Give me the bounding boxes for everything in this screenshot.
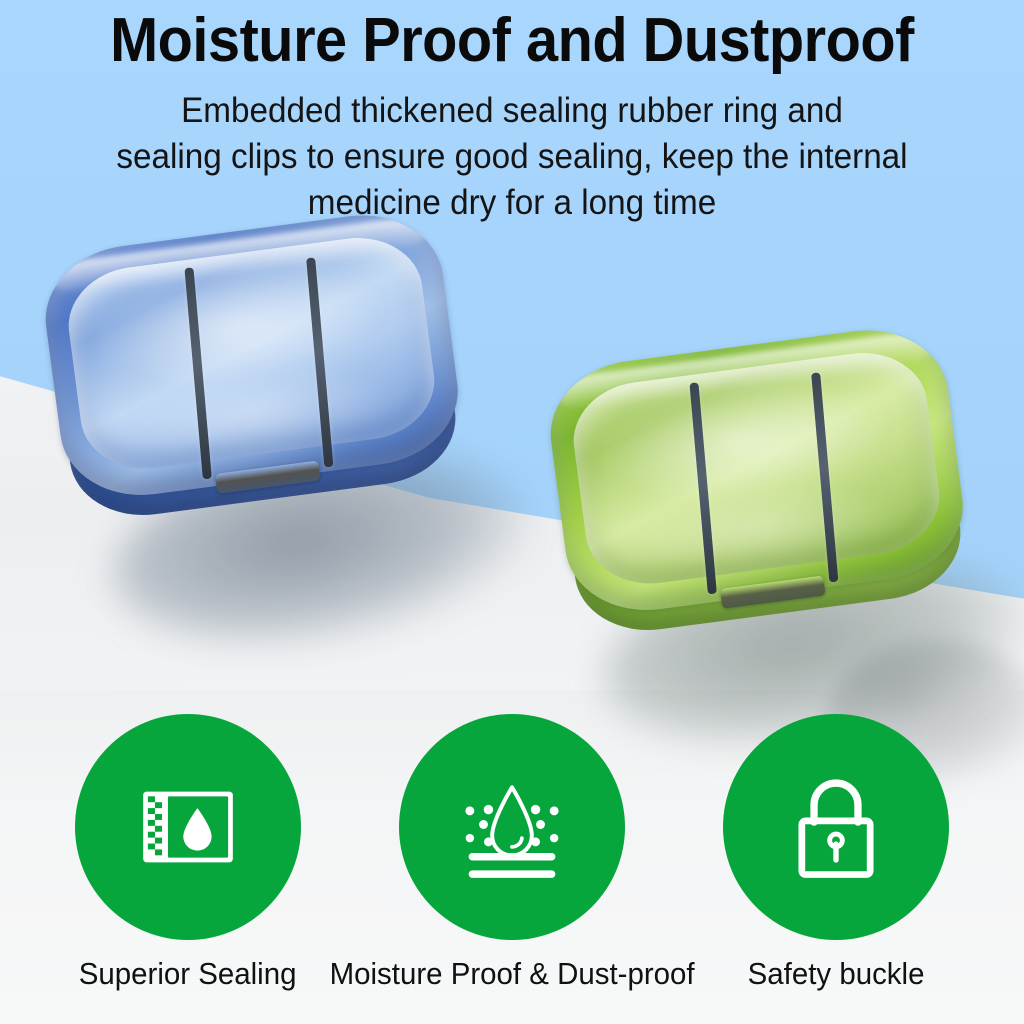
subtitle-line-1: Embedded thickened sealing rubber ring a… (64, 88, 961, 134)
droplet-dust-layers-icon (450, 765, 574, 889)
feature-icon-circle-2 (399, 714, 625, 940)
feature-item-moisture-dust-proof[interactable]: Moisture Proof & Dust-proof (362, 714, 662, 1024)
green-pill-box (542, 320, 978, 670)
sealed-pouch-droplet-icon (129, 768, 247, 886)
feature-label-1: Superior Sealing (79, 956, 297, 992)
feature-label-2: Moisture Proof & Dust-proof (330, 956, 695, 992)
page-title: Moisture Proof and Dustproof (36, 4, 988, 78)
feature-label-3: Safety buckle (748, 956, 925, 992)
subtitle-line-2: sealing clips to ensure good sealing, ke… (64, 134, 961, 180)
feature-icon-circle-1 (75, 714, 301, 940)
page-subtitle: Embedded thickened sealing rubber ring a… (64, 88, 961, 226)
blue-pill-box (37, 205, 473, 555)
subtitle-line-3: medicine dry for a long time (64, 180, 961, 226)
feature-row: Superior Sealing (0, 714, 1024, 1024)
padlock-icon (775, 766, 897, 888)
feature-item-safety-buckle[interactable]: Safety buckle (686, 714, 986, 1024)
feature-icon-circle-3 (723, 714, 949, 940)
product-feature-banner: Moisture Proof and Dustproof Embedded th… (0, 0, 1024, 1024)
feature-item-superior-sealing[interactable]: Superior Sealing (38, 714, 338, 1024)
